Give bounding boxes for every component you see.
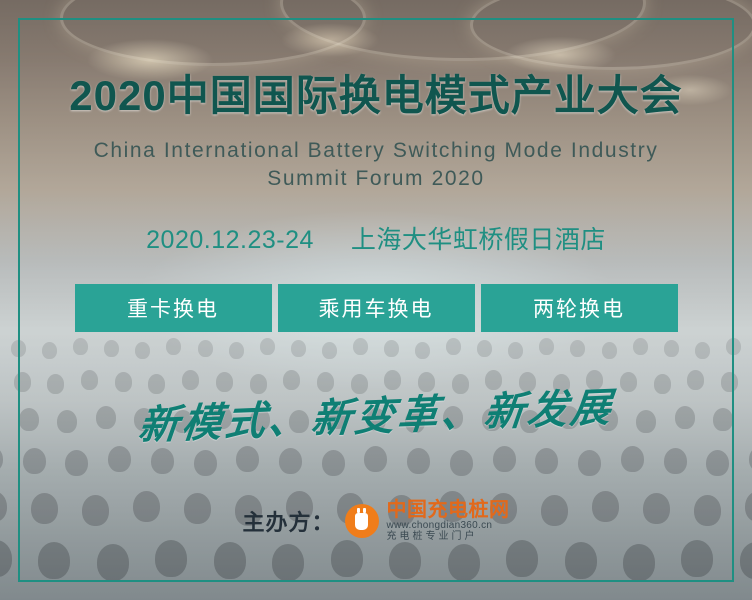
subtitle-english-line1: China International Battery Switching Mo… — [94, 137, 659, 165]
tab-two-wheeler-swap[interactable]: 两轮换电 — [481, 284, 678, 332]
subtitle-english: China International Battery Switching Mo… — [94, 137, 659, 192]
organizer-logo[interactable]: 中国充电桩网 www.chongdian360.cn 充电桩专业门户 — [345, 500, 510, 542]
slogan-text: 新模式、新变革、新发展 — [135, 375, 616, 451]
page-title: 2020中国国际换电模式产业大会 — [69, 62, 682, 123]
event-venue: 上海大华虹桥假日酒店 — [351, 226, 606, 254]
organizer-block: 主办方： 中国充电桩网 www.chongdian360.cn 充电桩专业门户 — [242, 500, 509, 542]
poster-content: 2020中国国际换电模式产业大会 China International Bat… — [0, 0, 752, 600]
tab-heavy-truck-swap[interactable]: 重卡换电 — [75, 284, 272, 332]
organizer-label: 主办方： — [242, 505, 334, 537]
logo-tagline: 充电桩专业门户 — [387, 532, 510, 543]
event-date: 2020.12.23-24 — [146, 226, 314, 254]
topic-tabs: 重卡换电 乘用车换电 两轮换电 — [75, 284, 678, 332]
tab-passenger-car-swap[interactable]: 乘用车换电 — [278, 284, 475, 332]
poster-image: // generated below by template script 20… — [0, 0, 752, 600]
logo-name: 中国充电桩网 — [387, 500, 510, 521]
charging-plug-icon — [345, 504, 379, 538]
subtitle-english-line2: Summit Forum 2020 — [94, 165, 659, 193]
event-meta: 2020.12.23-24 上海大华虹桥假日酒店 — [146, 220, 606, 256]
